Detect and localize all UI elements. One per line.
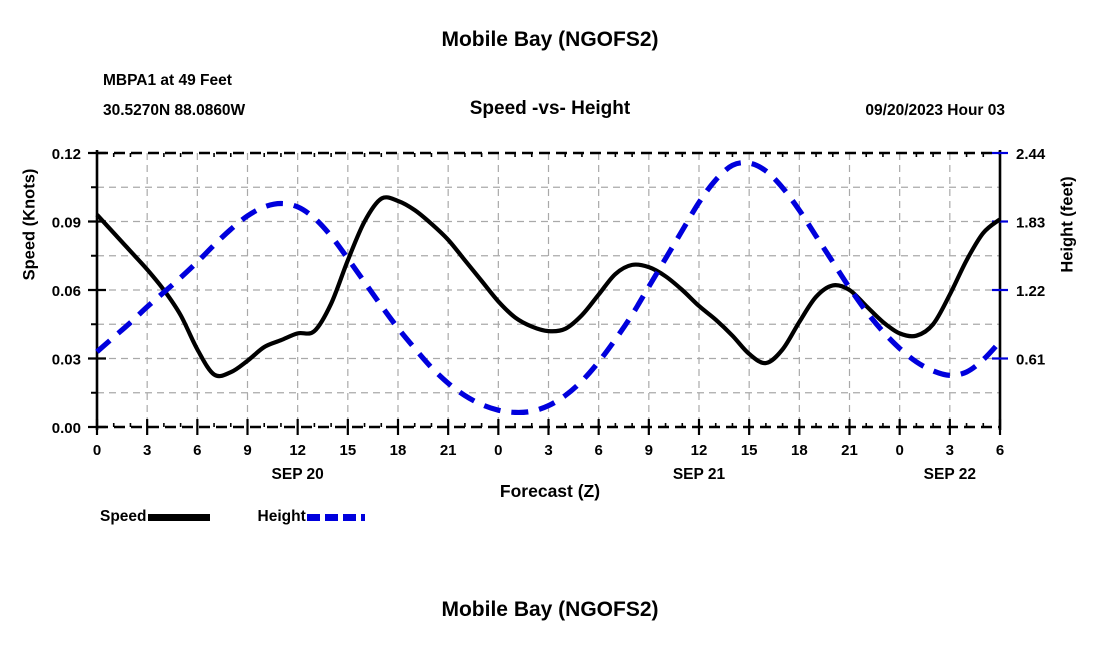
y-axis-right-label: Height (feet) (1059, 125, 1078, 325)
svg-text:6: 6 (996, 442, 1004, 459)
legend-swatch-height-icon (307, 514, 365, 521)
svg-text:0.00: 0.00 (52, 420, 81, 437)
page-title-bottom: Mobile Bay (NGOFS2) (0, 598, 1100, 622)
svg-text:0.09: 0.09 (52, 215, 81, 232)
forecast-timestamp-label: 09/20/2023 Hour 03 (865, 102, 1005, 120)
legend-item-speed[interactable]: Speed (100, 508, 210, 526)
page-title-top: Mobile Bay (NGOFS2) (0, 28, 1100, 52)
station-name-label: MBPA1 at 49 Feet (103, 72, 232, 90)
svg-text:0: 0 (93, 442, 101, 459)
svg-text:3: 3 (544, 442, 552, 459)
svg-text:0.12: 0.12 (52, 146, 81, 163)
svg-text:0: 0 (494, 442, 502, 459)
svg-text:21: 21 (440, 442, 457, 459)
series-line-height (97, 163, 1000, 413)
series-line-speed (97, 197, 1000, 376)
svg-text:2.44: 2.44 (1016, 146, 1046, 163)
svg-text:15: 15 (741, 442, 758, 459)
x-axis-label: Forecast (Z) (0, 481, 1100, 502)
svg-text:1.22: 1.22 (1016, 283, 1045, 300)
y-axis-left-label: Speed (Knots) (21, 125, 40, 325)
svg-text:6: 6 (193, 442, 201, 459)
svg-text:9: 9 (645, 442, 653, 459)
legend-item-height[interactable]: Height (258, 508, 365, 526)
legend-swatch-speed-icon (148, 514, 210, 521)
svg-text:3: 3 (143, 442, 151, 459)
svg-text:0.61: 0.61 (1016, 352, 1045, 369)
svg-text:0.06: 0.06 (52, 283, 81, 300)
svg-text:3: 3 (946, 442, 954, 459)
svg-text:0: 0 (895, 442, 903, 459)
svg-text:9: 9 (243, 442, 251, 459)
svg-text:1.83: 1.83 (1016, 215, 1045, 232)
svg-text:12: 12 (691, 442, 708, 459)
svg-text:0.03: 0.03 (52, 352, 81, 369)
legend-label-speed: Speed (100, 508, 147, 526)
legend-label-height: Height (258, 508, 306, 526)
svg-text:6: 6 (594, 442, 602, 459)
svg-text:12: 12 (289, 442, 306, 459)
svg-text:18: 18 (390, 442, 407, 459)
svg-text:15: 15 (339, 442, 356, 459)
svg-text:21: 21 (841, 442, 858, 459)
chart-legend: Speed Height (100, 508, 365, 526)
svg-text:18: 18 (791, 442, 808, 459)
